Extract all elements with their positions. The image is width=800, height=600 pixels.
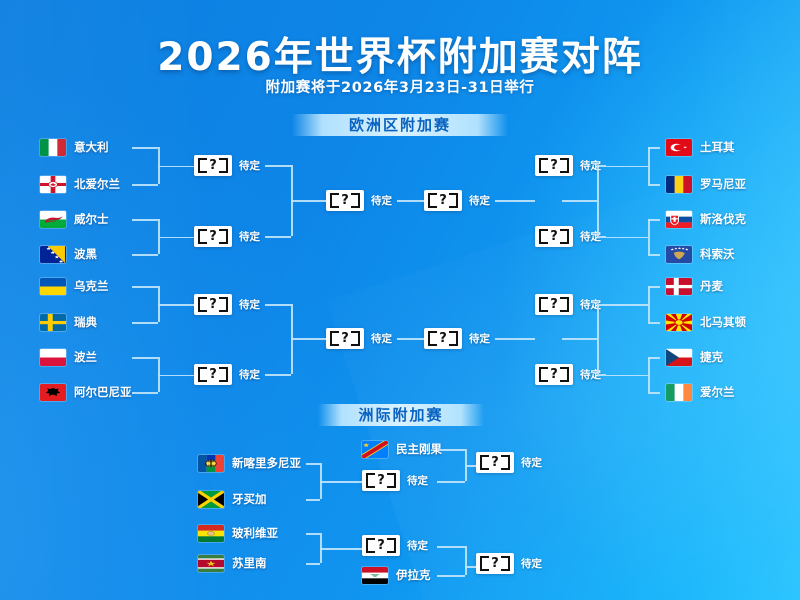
bracket-line-h xyxy=(158,237,194,239)
bracket-line-h xyxy=(320,548,362,550)
tbd-slot-eu-r-sf-2[interactable]: ?待定 xyxy=(535,226,601,247)
bracket-line xyxy=(291,200,326,202)
bracket-line-h xyxy=(606,166,648,168)
playoff-bracket-poster: 2026年世界杯附加赛对阵 附加赛将于2026年3月23日-31日举行 欧洲区附… xyxy=(0,0,800,600)
team-row[interactable]: 科索沃 xyxy=(666,245,735,263)
bracket-line-h xyxy=(132,286,158,288)
dr-congo-flag xyxy=(362,441,388,458)
team-name: 瑞典 xyxy=(74,314,97,330)
question-mark-icon: ? xyxy=(476,553,514,574)
team-name: 民主刚果 xyxy=(396,441,442,457)
tbd-slot-ic-final-1[interactable]: ?待定 xyxy=(476,452,542,473)
team-row[interactable]: 新喀里多尼亚 xyxy=(198,454,301,472)
bracket-line-h xyxy=(648,322,660,324)
team-name: 北马其顿 xyxy=(700,314,746,330)
team-row[interactable]: 北马其顿 xyxy=(666,313,746,331)
team-name: 牙买加 xyxy=(232,491,267,507)
team-name: 波黑 xyxy=(74,246,97,262)
bracket-line-h xyxy=(306,463,320,465)
bracket-line xyxy=(597,236,606,238)
team-row[interactable]: 罗马尼亚 xyxy=(666,175,746,193)
bracket-line-h xyxy=(158,304,194,306)
team-name: 科索沃 xyxy=(700,246,735,262)
team-row[interactable]: 伊拉克 xyxy=(362,566,431,584)
suriname-flag xyxy=(198,555,224,572)
team-row[interactable]: 斯洛伐克 xyxy=(666,210,746,228)
team-row[interactable]: 丹麦 xyxy=(666,277,723,295)
bracket-line-h xyxy=(158,166,194,168)
bracket-line-h xyxy=(158,375,194,377)
question-mark-icon: ? xyxy=(424,328,462,349)
question-mark-icon: ? xyxy=(194,294,232,315)
north-macedonia-flag xyxy=(666,314,692,331)
bracket-line-h xyxy=(606,375,648,377)
new-caledonia-flag xyxy=(198,455,224,472)
bracket-line xyxy=(397,338,424,340)
denmark-flag xyxy=(666,278,692,295)
bracket-line-h xyxy=(648,184,660,186)
team-row[interactable]: 瑞典 xyxy=(40,313,97,331)
bracket-line-h xyxy=(648,147,660,149)
bracket-line xyxy=(265,304,291,306)
bracket-line xyxy=(562,200,597,202)
bracket-line xyxy=(437,449,465,451)
tbd-label: 待定 xyxy=(239,229,260,244)
team-row[interactable]: 波兰 xyxy=(40,348,97,366)
team-name: 意大利 xyxy=(74,139,109,155)
team-name: 苏里南 xyxy=(232,555,267,571)
tbd-slot-eu-l-sf-1[interactable]: ?待定 xyxy=(194,155,260,176)
bracket-line xyxy=(562,338,597,340)
bracket-line xyxy=(437,546,465,548)
tbd-label: 待定 xyxy=(239,367,260,382)
bracket-line xyxy=(465,465,476,467)
bracket-line-h xyxy=(648,357,660,359)
iraq-flag xyxy=(362,567,388,584)
section-banner-europe: 欧洲区附加赛 xyxy=(292,114,508,136)
romania-flag xyxy=(666,176,692,193)
team-row[interactable]: 民主刚果 xyxy=(362,440,442,458)
bracket-line-h xyxy=(132,357,158,359)
team-row[interactable]: 玻利维亚 xyxy=(198,524,278,542)
ireland-flag xyxy=(666,384,692,401)
team-name: 玻利维亚 xyxy=(232,525,278,541)
team-name: 斯洛伐克 xyxy=(700,211,746,227)
question-mark-icon: ? xyxy=(535,294,573,315)
bracket-line-v xyxy=(648,219,650,254)
team-name: 新喀里多尼亚 xyxy=(232,455,301,471)
bracket-line xyxy=(465,546,467,575)
turkey-flag xyxy=(666,139,692,156)
bracket-line xyxy=(465,566,476,568)
bracket-line xyxy=(265,165,291,167)
team-name: 乌克兰 xyxy=(74,278,109,294)
bracket-line xyxy=(495,200,535,202)
question-mark-icon: ? xyxy=(535,155,573,176)
bracket-line-v xyxy=(648,147,650,184)
tbd-slot-eu-r-final-2[interactable]: ?待定 xyxy=(424,328,490,349)
tbd-label: 待定 xyxy=(239,297,260,312)
team-name: 爱尔兰 xyxy=(700,384,735,400)
sweden-flag xyxy=(40,314,66,331)
question-mark-icon: ? xyxy=(326,328,364,349)
team-row[interactable]: 爱尔兰 xyxy=(666,383,735,401)
team-row[interactable]: 波黑 xyxy=(40,245,97,263)
bracket-line-h xyxy=(306,533,320,535)
tbd-label: 待定 xyxy=(521,556,542,571)
question-mark-icon: ? xyxy=(362,470,400,491)
bracket-line-h xyxy=(306,563,320,565)
question-mark-icon: ? xyxy=(535,364,573,385)
tbd-slot-eu-l-sf-4[interactable]: ?待定 xyxy=(194,364,260,385)
tbd-slot-eu-l-sf-3[interactable]: ?待定 xyxy=(194,294,260,315)
tbd-slot-eu-l-sf-2[interactable]: ?待定 xyxy=(194,226,260,247)
tbd-label: 待定 xyxy=(371,331,392,346)
tbd-label: 待定 xyxy=(371,193,392,208)
team-name: 捷克 xyxy=(700,349,723,365)
jamaica-flag xyxy=(198,491,224,508)
page-title: 2026年世界杯附加赛对阵 xyxy=(0,26,800,82)
tbd-label: 待定 xyxy=(521,455,542,470)
bracket-line xyxy=(597,374,606,376)
team-name: 伊拉克 xyxy=(396,567,431,583)
bracket-line xyxy=(265,236,291,238)
tbd-label: 待定 xyxy=(469,193,490,208)
bracket-line-h xyxy=(606,304,648,306)
question-mark-icon: ? xyxy=(535,226,573,247)
team-name: 威尔士 xyxy=(74,211,109,227)
team-name: 波兰 xyxy=(74,349,97,365)
tbd-slot-ic-sf-1[interactable]: ?待定 xyxy=(362,470,428,491)
tbd-slot-ic-sf-2[interactable]: ?待定 xyxy=(362,535,428,556)
team-name: 土耳其 xyxy=(700,139,735,155)
team-row[interactable]: 土耳其 xyxy=(666,138,735,156)
tbd-label: 待定 xyxy=(407,473,428,488)
team-name: 阿尔巴尼亚 xyxy=(74,384,132,400)
poland-flag xyxy=(40,349,66,366)
team-name: 北爱尔兰 xyxy=(74,176,120,192)
ukraine-flag xyxy=(40,278,66,295)
bracket-line-h xyxy=(648,254,660,256)
team-row[interactable]: 北爱尔兰 xyxy=(40,175,120,193)
tbd-slot-ic-final-2[interactable]: ?待定 xyxy=(476,553,542,574)
czech-flag xyxy=(666,349,692,366)
tbd-slot-eu-r-final[interactable]: ?待定 xyxy=(424,190,490,211)
bosnia-flag xyxy=(40,246,66,263)
question-mark-icon: ? xyxy=(476,452,514,473)
team-row[interactable]: 阿尔巴尼亚 xyxy=(40,383,132,401)
question-mark-icon: ? xyxy=(424,190,462,211)
tbd-slot-eu-r-sf-4[interactable]: ?待定 xyxy=(535,364,601,385)
team-row[interactable]: 威尔士 xyxy=(40,210,109,228)
bracket-line xyxy=(437,481,465,483)
tbd-label: 待定 xyxy=(239,158,260,173)
page-subtitle: 附加赛将于2026年3月23日-31日举行 xyxy=(0,76,800,97)
slovakia-flag xyxy=(666,211,692,228)
team-row[interactable]: 牙买加 xyxy=(198,490,267,508)
team-name: 丹麦 xyxy=(700,278,723,294)
bracket-line xyxy=(495,338,535,340)
bracket-line-h xyxy=(606,237,648,239)
kosovo-flag xyxy=(666,246,692,263)
bracket-line-h xyxy=(320,481,362,483)
team-row[interactable]: 意大利 xyxy=(40,138,109,156)
italy-flag xyxy=(40,139,66,156)
albania-flag xyxy=(40,384,66,401)
bracket-line xyxy=(291,338,326,340)
tbd-label: 待定 xyxy=(407,538,428,553)
team-name: 罗马尼亚 xyxy=(700,176,746,192)
team-row[interactable]: 苏里南 xyxy=(198,554,267,572)
bracket-line xyxy=(597,165,599,236)
section-banner-intercontinental: 洲际附加赛 xyxy=(318,404,484,426)
question-mark-icon: ? xyxy=(194,226,232,247)
bracket-line xyxy=(265,374,291,376)
wales-flag xyxy=(40,211,66,228)
northern-ireland-flag xyxy=(40,176,66,193)
team-row[interactable]: 乌克兰 xyxy=(40,277,109,295)
tbd-slot-eu-r-sf-3[interactable]: ?待定 xyxy=(535,294,601,315)
bracket-line-h xyxy=(132,254,158,256)
bracket-line-v xyxy=(648,357,650,392)
bracket-line-h xyxy=(648,392,660,394)
tbd-slot-eu-r-sf-1[interactable]: ?待定 xyxy=(535,155,601,176)
team-row[interactable]: 捷克 xyxy=(666,348,723,366)
bracket-line-v xyxy=(648,286,650,322)
bolivia-flag xyxy=(198,525,224,542)
bracket-line-h xyxy=(306,499,320,501)
bracket-line-h xyxy=(648,219,660,221)
bracket-line-h xyxy=(132,322,158,324)
question-mark-icon: ? xyxy=(194,364,232,385)
bracket-line-h xyxy=(648,286,660,288)
bracket-line-h xyxy=(132,147,158,149)
tbd-label: 待定 xyxy=(469,331,490,346)
bracket-line xyxy=(397,200,424,202)
bracket-line xyxy=(437,575,465,577)
bracket-line-h xyxy=(132,392,158,394)
question-mark-icon: ? xyxy=(326,190,364,211)
bracket-line xyxy=(597,304,599,374)
question-mark-icon: ? xyxy=(194,155,232,176)
tbd-slot-eu-l-final-2[interactable]: ?待定 xyxy=(326,328,392,349)
tbd-slot-eu-l-final[interactable]: ?待定 xyxy=(326,190,392,211)
bracket-line-h xyxy=(132,184,158,186)
question-mark-icon: ? xyxy=(362,535,400,556)
bracket-line-h xyxy=(132,219,158,221)
